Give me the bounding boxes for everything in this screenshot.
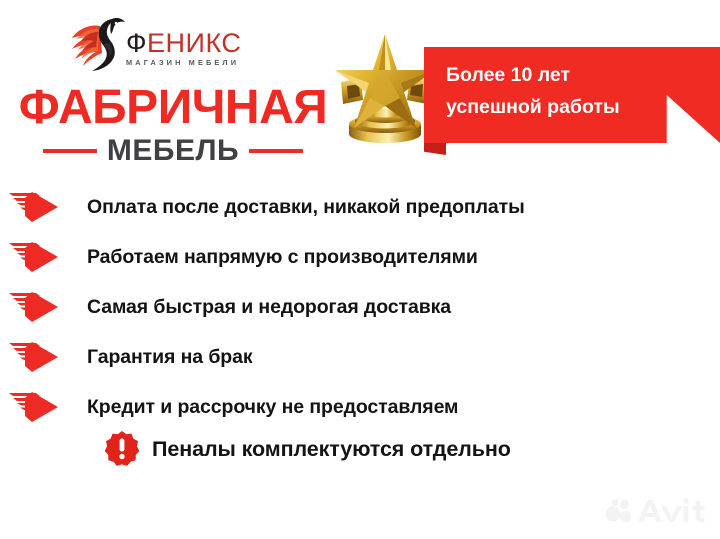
gold-star-trophy-icon <box>331 26 439 148</box>
list-item: Работаем напрямую с производителями <box>0 232 720 282</box>
decorative-dash-left <box>43 149 97 153</box>
list-item: Кредит и рассрочку не предоставляем <box>0 382 720 432</box>
avito-logo-watermark <box>604 495 712 527</box>
list-item-label: Самая быстрая и недорогая доставка <box>87 295 451 319</box>
benefits-list: Оплата после доставки, никакой предоплат… <box>0 182 720 432</box>
footer-note: Пеналы комплектуются отдельно <box>104 430 511 468</box>
footer-note-label: Пеналы комплектуются отдельно <box>152 436 511 462</box>
logo-subtitle: МАГАЗИН МЕБЕЛИ <box>126 58 278 68</box>
exclamation-starburst-badge-icon <box>104 430 140 468</box>
headline-main-text: ФАБРИЧНАЯ <box>8 83 338 133</box>
list-item-label: Оплата после доставки, никакой предоплат… <box>87 195 525 219</box>
experience-banner: Более 10 лет успешной работы <box>424 47 720 143</box>
headline-sub-text: МЕБЕЛЬ <box>107 134 239 168</box>
experience-banner-line1: Более 10 лет <box>446 59 661 91</box>
red-speed-arrow-icon <box>6 340 70 374</box>
logo-brand-name: ФЕНИКС <box>126 29 278 57</box>
list-item-label: Кредит и рассрочку не предоставляем <box>87 395 458 419</box>
list-item: Гарантия на брак <box>0 332 720 382</box>
experience-banner-text: Более 10 лет успешной работы <box>446 59 661 123</box>
red-speed-arrow-icon <box>6 240 70 274</box>
experience-banner-line2: успешной работы <box>446 91 661 123</box>
red-speed-arrow-icon <box>6 390 70 424</box>
logo-brand-name-first: Ф <box>126 28 147 58</box>
brand-logo: ФЕНИКС МАГАЗИН МЕБЕЛИ <box>68 14 278 80</box>
red-speed-arrow-icon <box>6 190 70 224</box>
page-title: ФАБРИЧНАЯ МЕБЕЛЬ <box>8 83 338 168</box>
list-item: Оплата после доставки, никакой предоплат… <box>0 182 720 232</box>
decorative-dash-right <box>249 149 303 153</box>
list-item: Самая быстрая и недорогая доставка <box>0 282 720 332</box>
logo-wordmark: ФЕНИКС МАГАЗИН МЕБЕЛИ <box>126 29 278 63</box>
promo-poster: ФЕНИКС МАГАЗИН МЕБЕЛИ ФАБРИЧНАЯ МЕБЕЛЬ <box>0 0 720 539</box>
logo-brand-name-rest: ЕНИКС <box>147 28 241 58</box>
list-item-label: Гарантия на брак <box>87 345 253 369</box>
phoenix-bird-icon <box>68 14 130 76</box>
headline-sub-row: МЕБЕЛЬ <box>8 134 338 168</box>
red-speed-arrow-icon <box>6 290 70 324</box>
list-item-label: Работаем напрямую с производителями <box>87 245 478 269</box>
ribbon-fold-tail <box>424 142 446 155</box>
